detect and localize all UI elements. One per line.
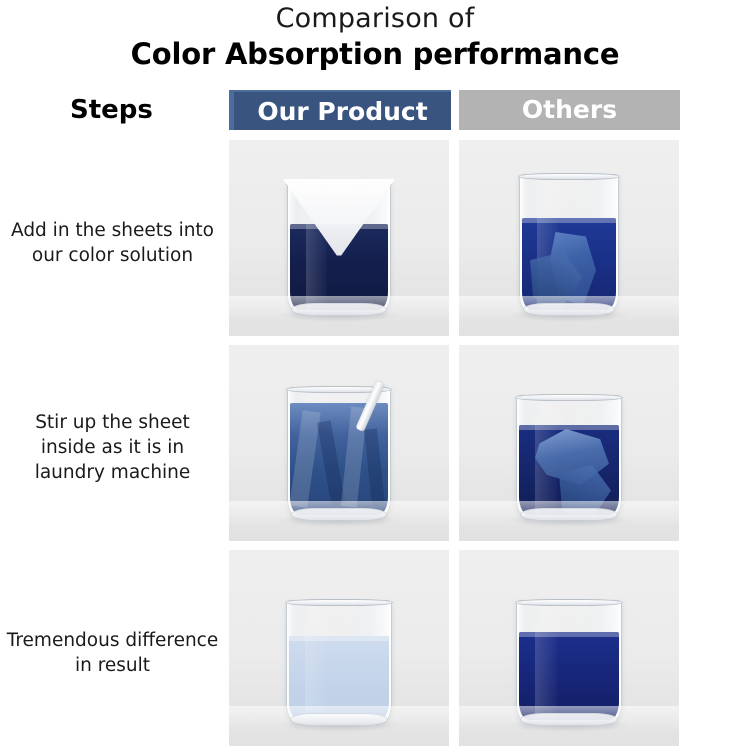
fabric-fold bbox=[290, 410, 321, 508]
glass-shadow bbox=[506, 308, 632, 322]
photo-scene bbox=[229, 550, 449, 746]
glass-shadow bbox=[506, 718, 632, 732]
step-label-2: Stir up the sheet inside as it is in lau… bbox=[0, 345, 225, 550]
photo-scene bbox=[459, 550, 679, 746]
photo-scene bbox=[229, 345, 449, 541]
glass-shadow bbox=[276, 718, 402, 732]
glass-rim bbox=[518, 173, 620, 180]
column-header-others: Others bbox=[459, 90, 680, 130]
title-line-2: Color Absorption performance bbox=[0, 36, 750, 72]
glass-rim bbox=[515, 394, 623, 401]
steps-column-label: Steps bbox=[70, 90, 220, 132]
glass-base bbox=[291, 303, 387, 316]
comparison-grid: Add in the sheets into our color solutio… bbox=[0, 140, 750, 755]
title-line-1: Comparison of bbox=[0, 2, 750, 35]
liquid-royal-blue bbox=[522, 218, 616, 310]
liquid-sheen bbox=[305, 636, 327, 720]
glass-base bbox=[291, 508, 387, 521]
liquid-pale-blue bbox=[289, 636, 389, 720]
photo-our-product-step-3 bbox=[229, 550, 449, 746]
glass-base bbox=[520, 508, 618, 521]
liquid-deep-blue bbox=[519, 632, 619, 720]
saturated-fabric-icon bbox=[290, 403, 388, 515]
beaker-glass bbox=[286, 600, 392, 724]
photo-scene bbox=[229, 140, 449, 336]
glass-shadow bbox=[506, 513, 632, 527]
step-label-3: Tremendous difference in result bbox=[0, 550, 225, 755]
glass-rim bbox=[285, 599, 393, 606]
photo-our-product-step-2 bbox=[229, 345, 449, 541]
column-header-row: Steps Our Product Others bbox=[0, 90, 750, 132]
photo-our-product-step-1 bbox=[229, 140, 449, 336]
beaker-glass bbox=[287, 387, 391, 519]
comparison-row: Tremendous difference in result bbox=[0, 550, 750, 755]
glass-base bbox=[290, 713, 388, 726]
comparison-row: Stir up the sheet inside as it is in lau… bbox=[0, 345, 750, 550]
liquid-sheen bbox=[535, 632, 557, 720]
glass-base bbox=[523, 303, 615, 316]
title-block: Comparison of Color Absorption performan… bbox=[0, 0, 750, 72]
beaker-glass bbox=[287, 182, 391, 314]
glass-shadow bbox=[276, 513, 402, 527]
photo-others-step-3 bbox=[459, 550, 679, 746]
fabric-fold bbox=[317, 420, 345, 505]
glass-rim bbox=[515, 599, 623, 606]
glass-shadow bbox=[276, 308, 402, 322]
liquid-deep-blue bbox=[519, 425, 619, 515]
comparison-row: Add in the sheets into our color solutio… bbox=[0, 140, 750, 345]
column-header-our-product: Our Product bbox=[229, 90, 451, 130]
fabric-fold bbox=[364, 429, 385, 506]
dyed-sheet-icon bbox=[559, 465, 611, 515]
step-label-1: Add in the sheets into our color solutio… bbox=[0, 140, 225, 345]
photo-others-step-1 bbox=[459, 140, 679, 336]
photo-scene bbox=[459, 345, 679, 541]
beaker-glass bbox=[516, 395, 622, 519]
photo-others-step-2 bbox=[459, 345, 679, 541]
beaker-glass bbox=[519, 174, 619, 314]
beaker-glass bbox=[516, 600, 622, 724]
glass-base bbox=[520, 713, 618, 726]
photo-scene bbox=[459, 140, 679, 336]
